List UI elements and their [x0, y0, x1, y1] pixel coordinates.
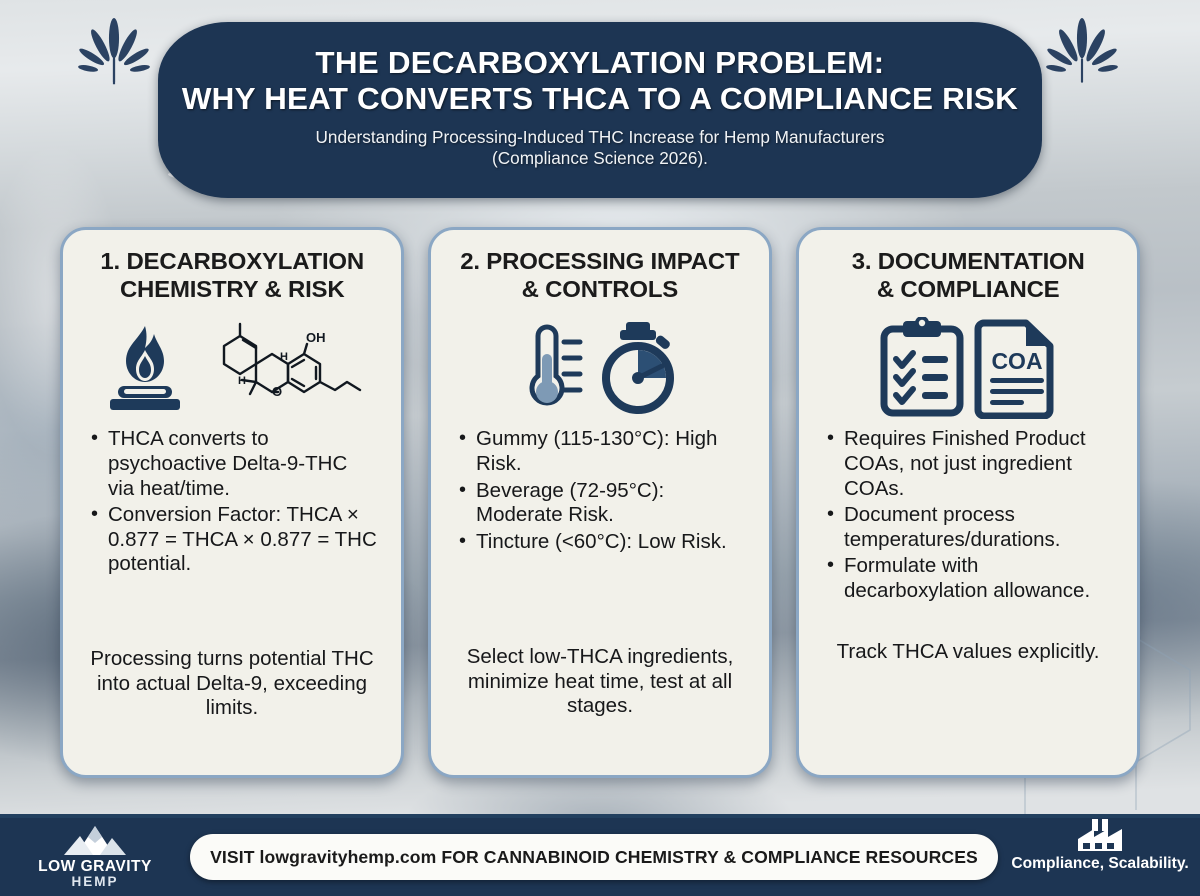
page-title: THE DECARBOXYLATION PROBLEM: WHY HEAT CO… [182, 46, 1018, 118]
card-title: 3. DOCUMENTATION & COMPLIANCE [852, 248, 1085, 303]
list-item: Requires Finished Product COAs, not just… [827, 427, 1115, 501]
stopwatch-icon [590, 316, 686, 420]
list-item: THCA converts to psychoactive Delta-9-TH… [91, 427, 379, 501]
card-bullet-list: THCA converts to psychoactive Delta-9-TH… [79, 427, 385, 579]
cannabis-leaf-icon [1046, 14, 1118, 94]
card-decarboxylation-chemistry: 1. DECARBOXYLATION CHEMISTRY & RISK [60, 227, 404, 778]
card-row: 1. DECARBOXYLATION CHEMISTRY & RISK [0, 227, 1200, 782]
header-banner: THE DECARBOXYLATION PROBLEM: WHY HEAT CO… [158, 22, 1042, 198]
list-item: Tincture (<60°C): Low Risk. [459, 530, 747, 555]
card-footnote: Processing turns potential THC into actu… [79, 647, 385, 761]
title-line-1: THE DECARBOXYLATION PROBLEM: [182, 46, 1018, 82]
infographic-page: THE DECARBOXYLATION PROBLEM: WHY HEAT CO… [0, 0, 1200, 896]
thermometer-icon [514, 316, 584, 420]
list-item: Conversion Factor: THCA × 0.877 = THCA ×… [91, 503, 379, 577]
title-line-2: WHY HEAT CONVERTS THCA TO A COMPLIANCE R… [182, 82, 1018, 118]
list-item: Gummy (115-130°C): High Risk. [459, 427, 747, 476]
thc-molecule-icon: OH O H H [194, 320, 362, 416]
footer-tagline-group: Compliance, Scalability. [1004, 841, 1200, 873]
card-title-line-2: & CONTROLS [460, 276, 739, 304]
brand-logo[interactable]: LOW GRAVITY HEMP [0, 824, 190, 890]
clipboard-checklist-icon [876, 317, 968, 419]
page-subtitle: Understanding Processing-Induced THC Inc… [315, 127, 884, 170]
tagline: Compliance, Scalability. [1011, 855, 1188, 873]
card-icon-group: OH O H H [102, 309, 362, 427]
card-title: 2. PROCESSING IMPACT & CONTROLS [460, 248, 739, 303]
svg-text:H: H [280, 351, 288, 363]
card-title-line-2: & COMPLIANCE [852, 276, 1085, 304]
card-bullet-list: Requires Finished Product COAs, not just… [815, 427, 1121, 605]
list-item: Formulate with decarboxylation allowance… [827, 554, 1115, 603]
card-footnote: Track THCA values explicitly. [833, 640, 1104, 761]
list-item: Document process temperatures/durations. [827, 503, 1115, 552]
factory-icon [1074, 819, 1126, 853]
card-icon-group: COA [876, 309, 1060, 427]
subtitle-line-1: Understanding Processing-Induced THC Inc… [315, 127, 884, 149]
cannabis-leaf-icon [78, 14, 150, 94]
cta-text: VISIT lowgravityhemp.com FOR CANNABINOID… [210, 847, 978, 868]
card-title-line-1: 3. DOCUMENTATION [852, 248, 1085, 276]
card-icon-group [514, 309, 686, 427]
card-footnote: Select low-THCA ingredients, minimize he… [447, 645, 753, 761]
logo-subtitle: HEMP [71, 875, 118, 890]
footer: LOW GRAVITY HEMP VISIT lowgravityhemp.co… [0, 818, 1200, 896]
mountain-logo-icon [62, 824, 128, 858]
cta-banner[interactable]: VISIT lowgravityhemp.com FOR CANNABINOID… [190, 834, 998, 880]
card-title-line-1: 2. PROCESSING IMPACT [460, 248, 739, 276]
coa-label: COA [991, 348, 1042, 374]
list-item: Beverage (72-95°C): Moderate Risk. [459, 479, 747, 528]
card-documentation-compliance: 3. DOCUMENTATION & COMPLIANCE [796, 227, 1140, 778]
svg-text:H: H [238, 375, 246, 387]
svg-text:OH: OH [306, 330, 326, 345]
card-bullet-list: Gummy (115-130°C): High Risk. Beverage (… [447, 427, 753, 556]
card-processing-impact: 2. PROCESSING IMPACT & CONTROLS [428, 227, 772, 778]
svg-text:O: O [272, 384, 282, 399]
flame-burner-icon [102, 320, 188, 416]
subtitle-line-2: (Compliance Science 2026). [315, 148, 884, 170]
logo-name: LOW GRAVITY [38, 859, 152, 875]
card-title-line-1: 1. DECARBOXYLATION [100, 248, 364, 276]
coa-document-icon: COA [974, 317, 1060, 419]
card-title: 1. DECARBOXYLATION CHEMISTRY & RISK [100, 248, 364, 303]
card-title-line-2: CHEMISTRY & RISK [100, 276, 364, 304]
header: THE DECARBOXYLATION PROBLEM: WHY HEAT CO… [0, 0, 1200, 205]
